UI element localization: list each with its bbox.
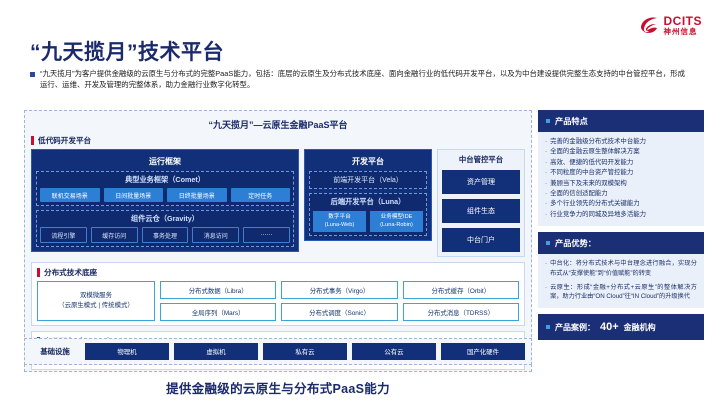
product-cases-card: 产品案例： 40+ 金融机构: [538, 314, 704, 340]
square-bullet-icon: [30, 72, 35, 77]
base-column-cache: 分布式缓存（Orbit） 分布式消息（TDRSS）: [403, 281, 519, 321]
slide-root: DCITS 神州信息 “九天揽月”技术平台 “九天揽月”为客户提供金融级的云原生…: [0, 0, 720, 405]
architecture-diagram: “九天揽月”—云原生金融PaaS平台 低代码开发平台 运行框架 典型业务框架（C…: [24, 110, 532, 372]
feature-item: ·全面的信创适配能力: [545, 189, 697, 199]
dot-icon: ·: [545, 210, 547, 220]
control-platform-title: 中台管控平台: [442, 154, 520, 165]
base-cell-virgo[interactable]: 分布式事务（Virgo）: [281, 281, 397, 299]
runtime-group-gravity: 组件云仓（Gravity） 流程引擎 缓存访问 事务处理 消息访问 ……: [36, 210, 294, 247]
chip-transaction-process[interactable]: 事务处理: [142, 227, 189, 243]
dot-icon: ·: [545, 147, 547, 157]
chip-eod-batch[interactable]: 日终批量场景: [167, 188, 227, 202]
feature-item: ·全面的金融云原生整体解决方案: [545, 147, 697, 157]
group-title-gravity: 组件云仓（Gravity）: [40, 214, 290, 224]
section-label-base: 分布式技术底座: [44, 267, 97, 278]
product-features-title: 产品特点: [555, 115, 588, 127]
dot-icon: ·: [545, 259, 547, 279]
feature-text: 完善的金融级分布式技术中台能力: [550, 137, 646, 147]
intro-text: “九天揽月”为客户提供金融级的云原生与分布式的完整PaaS能力，包括：底层的云原…: [40, 68, 685, 91]
infrastructure-cells: 物理机 虚拟机 私有云 公有云 国产化硬件: [85, 343, 525, 360]
product-advantages-body: ·中台化：将分布式技术与中台理念进行融合，实现分布式从“支撑使能”到“价值赋能”…: [538, 254, 704, 308]
feature-item: ·不同粒度的中台资产管控能力: [545, 168, 697, 178]
base-columns: 分布式数据（Libra） 全局序列（Mars） 分布式事务（Virgo） 分布式…: [160, 281, 519, 321]
feature-text: 全面的信创适配能力: [550, 189, 608, 199]
dev-back-platform: 后端开发平台（Luna）: [313, 197, 423, 207]
infra-cell-domestic-hardware[interactable]: 国产化硬件: [441, 343, 525, 360]
infrastructure-label: 基础设施: [31, 346, 79, 357]
product-features-card: 产品特点 ·完善的金融级分布式技术中台能力 ·全面的金融云原生整体解决方案 ·高…: [538, 110, 704, 226]
control-item-component-ecosystem[interactable]: 组件生态: [442, 199, 520, 223]
diagram-title: “九天揽月”—云原生金融PaaS平台: [31, 116, 525, 135]
dcits-swirl-icon: [638, 14, 660, 36]
section-accent-bar: [31, 136, 34, 145]
runtime-panel: 运行框架 典型业务框架（Comet） 联机交易场景 日间批量场景 日终批量场景 …: [31, 149, 299, 252]
base-grid: 双模微服务 （云原生模式 | 传统模式） 分布式数据（Libra） 全局序列（M…: [37, 281, 519, 321]
brand-name-en: DCITS: [664, 15, 703, 27]
runtime-column: 运行框架 典型业务框架（Comet） 联机交易场景 日间批量场景 日终批量场景 …: [31, 149, 299, 257]
base-dual-mode-line2: （云原生模式 | 传统模式）: [58, 301, 134, 311]
feature-text: 高效、便捷的低代码开发能力: [550, 158, 633, 168]
product-features-body: ·完善的金融级分布式技术中台能力 ·全面的金融云原生整体解决方案 ·高效、便捷的…: [538, 132, 704, 226]
dev-platform-panel: 开发平台 前端开发平台（Vela） 后端开发平台（Luna） 数字平台 (Lun…: [304, 149, 432, 241]
product-cases-unit: 金融机构: [624, 322, 656, 333]
feature-item: ·兼顾当下及未来的双模架构: [545, 179, 697, 189]
chip-process-engine[interactable]: 流程引擎: [40, 227, 87, 243]
base-cell-mars[interactable]: 全局序列（Mars）: [160, 303, 276, 321]
dot-icon: ·: [545, 158, 547, 168]
dev-box-luna-robin[interactable]: 业务模型IDE (Luna-Robin): [370, 211, 423, 232]
intro-paragraph: “九天揽月”为客户提供金融级的云原生与分布式的完整PaaS能力，包括：底层的云原…: [30, 68, 685, 91]
group-title-comet: 典型业务框架（Comet）: [40, 175, 290, 185]
product-advantages-title: 产品优势：: [555, 237, 596, 249]
dev-box-luna-web-line1: 数字平台: [314, 214, 365, 222]
base-cell-orbit[interactable]: 分布式缓存（Orbit）: [403, 281, 519, 299]
advantage-text: 云原生：形成“金融+分布式+云原生”的整体解决方案，助力行业由“ON Cloud…: [550, 283, 697, 303]
base-dual-mode-line1: 双模微服务: [80, 291, 112, 301]
product-cases-number: 40+: [600, 321, 619, 333]
dot-icon: ·: [545, 283, 547, 303]
runtime-title: 运行框架: [36, 154, 294, 171]
infra-cell-private-cloud[interactable]: 私有云: [263, 343, 347, 360]
infra-cell-physical-machine[interactable]: 物理机: [85, 343, 169, 360]
section-accent-bar: [37, 268, 40, 277]
brand-name-cn: 神州信息: [664, 28, 703, 36]
dev-box-luna-web[interactable]: 数字平台 (Luna-Web): [313, 211, 366, 232]
feature-text: 不同粒度的中台资产管控能力: [550, 168, 633, 178]
dev-front-platform[interactable]: 前端开发平台（Vela）: [309, 171, 427, 189]
base-cell-sonic[interactable]: 分布式调度（Sonic）: [281, 303, 397, 321]
dev-platform-title: 开发平台: [309, 154, 427, 171]
section-label-lowcode: 低代码开发平台: [38, 135, 91, 146]
feature-item: ·多个行业领先的分布式关键能力: [545, 199, 697, 209]
advantage-text: 中台化：将分布式技术与中台理念进行融合，实现分布式从“支撑使能”到“价值赋能”的…: [550, 259, 697, 279]
footer-tagline: 提供金融级的云原生与分布式PaaS能力: [24, 378, 532, 397]
base-cell-tdrss[interactable]: 分布式消息（TDRSS）: [403, 303, 519, 321]
product-advantages-card: 产品优势： ·中台化：将分布式技术与中台理念进行融合，实现分布式从“支撑使能”到…: [538, 232, 704, 308]
chip-more[interactable]: ……: [243, 227, 290, 243]
lowcode-row: 运行框架 典型业务框架（Comet） 联机交易场景 日间批量场景 日终批量场景 …: [31, 149, 525, 257]
control-platform-column: 中台管控平台 资产管理 组件生态 中台门户: [437, 149, 525, 257]
feature-text: 多个行业领先的分布式关键能力: [550, 199, 639, 209]
distributed-base-section: 分布式技术底座 双模微服务 （云原生模式 | 传统模式） 分布式数据（Libra…: [31, 262, 525, 326]
dev-box-luna-web-line2: (Luna-Web): [314, 222, 365, 230]
dot-icon: ·: [545, 137, 547, 147]
product-cases-title: 产品案例：: [555, 322, 595, 333]
product-advantages-header: 产品优势：: [538, 232, 704, 254]
control-item-asset-management[interactable]: 资产管理: [442, 170, 520, 194]
feature-item: ·完善的金融级分布式技术中台能力: [545, 137, 697, 147]
base-column-data: 分布式数据（Libra） 全局序列（Mars）: [160, 281, 276, 321]
infrastructure-section: 基础设施 物理机 虚拟机 私有云 公有云 国产化硬件: [24, 338, 532, 365]
infra-cell-public-cloud[interactable]: 公有云: [352, 343, 436, 360]
section-header-lowcode: 低代码开发平台: [31, 135, 525, 146]
chip-row-comet: 联机交易场景 日间批量场景 日终批量场景 定时任务: [40, 188, 290, 202]
base-column-transaction: 分布式事务（Virgo） 分布式调度（Sonic）: [281, 281, 397, 321]
base-dual-mode-microservice[interactable]: 双模微服务 （云原生模式 | 传统模式）: [37, 281, 155, 321]
dot-icon: ·: [545, 168, 547, 178]
feature-text: 全面的金融云原生整体解决方案: [550, 147, 639, 157]
infra-cell-virtual-machine[interactable]: 虚拟机: [174, 343, 258, 360]
chip-intraday-batch[interactable]: 日间批量场景: [104, 188, 164, 202]
base-cell-libra[interactable]: 分布式数据（Libra）: [160, 281, 276, 299]
feature-text: 行业竞争力的同城及异地多活能力: [550, 210, 646, 220]
feature-text: 兼顾当下及未来的双模架构: [550, 179, 627, 189]
chip-row-gravity: 流程引擎 缓存访问 事务处理 消息访问 ……: [40, 227, 290, 243]
dot-icon: ·: [545, 189, 547, 199]
runtime-group-comet: 典型业务框架（Comet） 联机交易场景 日间批量场景 日终批量场景 定时任务: [36, 171, 294, 206]
page-title: “九天揽月”技术平台: [30, 36, 224, 66]
square-bullet-icon: [546, 325, 550, 329]
chip-cache-access[interactable]: 缓存访问: [91, 227, 138, 243]
dev-sub-boxes: 数字平台 (Luna-Web) 业务模型IDE (Luna-Robin): [313, 211, 423, 232]
dev-back-group: 后端开发平台（Luna） 数字平台 (Luna-Web) 业务模型IDE (Lu…: [309, 193, 427, 236]
right-rail: 产品特点 ·完善的金融级分布式技术中台能力 ·全面的金融云原生整体解决方案 ·高…: [538, 110, 704, 340]
advantage-item: ·中台化：将分布式技术与中台理念进行融合，实现分布式从“支撑使能”到“价值赋能”…: [545, 259, 697, 279]
dev-box-luna-robin-line2: (Luna-Robin): [371, 222, 422, 230]
advantage-item: ·云原生：形成“金融+分布式+云原生”的整体解决方案，助力行业由“ON Clou…: [545, 283, 697, 303]
square-bullet-icon: [546, 119, 550, 123]
chip-message-access[interactable]: 消息访问: [192, 227, 239, 243]
feature-item: ·高效、便捷的低代码开发能力: [545, 158, 697, 168]
dot-icon: ·: [545, 179, 547, 189]
square-bullet-icon: [546, 241, 550, 245]
chip-scheduled-task[interactable]: 定时任务: [231, 188, 291, 202]
dot-icon: ·: [545, 199, 547, 209]
product-features-header: 产品特点: [538, 110, 704, 132]
feature-item: ·行业竞争力的同城及异地多活能力: [545, 210, 697, 220]
control-item-portal[interactable]: 中台门户: [442, 228, 520, 252]
brand-logo: DCITS 神州信息: [638, 14, 703, 36]
section-header-base: 分布式技术底座: [37, 267, 519, 278]
chip-online-transaction[interactable]: 联机交易场景: [40, 188, 100, 202]
dev-platform-column: 开发平台 前端开发平台（Vela） 后端开发平台（Luna） 数字平台 (Lun…: [304, 149, 432, 257]
dev-box-luna-robin-line1: 业务模型IDE: [371, 214, 422, 222]
